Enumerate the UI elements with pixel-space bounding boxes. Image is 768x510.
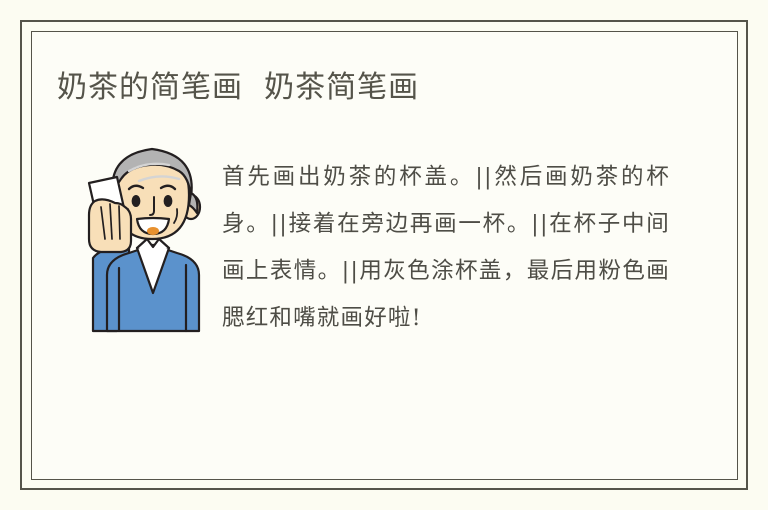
finger-line-3: [119, 206, 120, 239]
tongue: [147, 227, 159, 235]
elderly-man-on-phone-icon: [55, 135, 215, 360]
page-title: 奶茶的简笔画 奶茶简笔画: [57, 62, 419, 106]
article-card: 奶茶的简笔画 奶茶简笔画: [0, 0, 768, 510]
eye-right: [164, 195, 173, 207]
illustration-elderly-man-on-phone: [55, 135, 215, 360]
shirt-collar: [137, 239, 169, 248]
article-body-text: 首先画出奶茶的杯盖。||然后画奶茶的杯身。||接着在旁边再画一杯。||在杯子中间…: [222, 154, 670, 342]
card-content: 奶茶的简笔画 奶茶简笔画: [32, 32, 737, 479]
eye-left: [132, 195, 141, 207]
